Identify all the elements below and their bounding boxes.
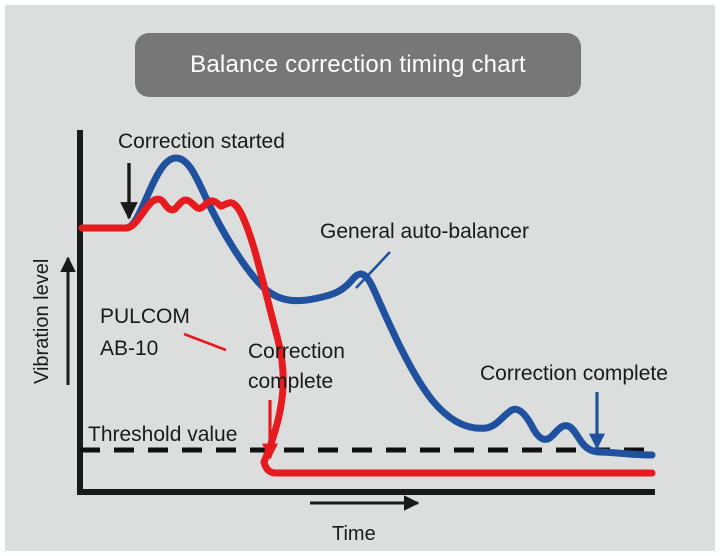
annotation-general-auto-balancer: General auto-balancer (320, 220, 529, 243)
chart-canvas: Vibration level Time Threshold value Cor… (0, 0, 720, 556)
figure-root: Balance correction timing chart Vibratio… (0, 0, 720, 556)
x-axis-label: Time (332, 523, 376, 545)
annotation-correction-complete-red-line2: complete (248, 370, 333, 393)
annotation-correction-complete-red-line1: Correction (248, 340, 345, 363)
annotation-correction-complete-blue: Correction complete (480, 362, 668, 385)
annotation-correction-started: Correction started (118, 130, 285, 153)
y-axis-label: Vibration level (31, 259, 53, 384)
threshold-label: Threshold value (88, 423, 237, 446)
annotation-pulcom-line2: AB-10 (100, 337, 158, 360)
annotation-pulcom-line1: PULCOM (100, 305, 190, 328)
pulcom-leader (184, 334, 226, 350)
